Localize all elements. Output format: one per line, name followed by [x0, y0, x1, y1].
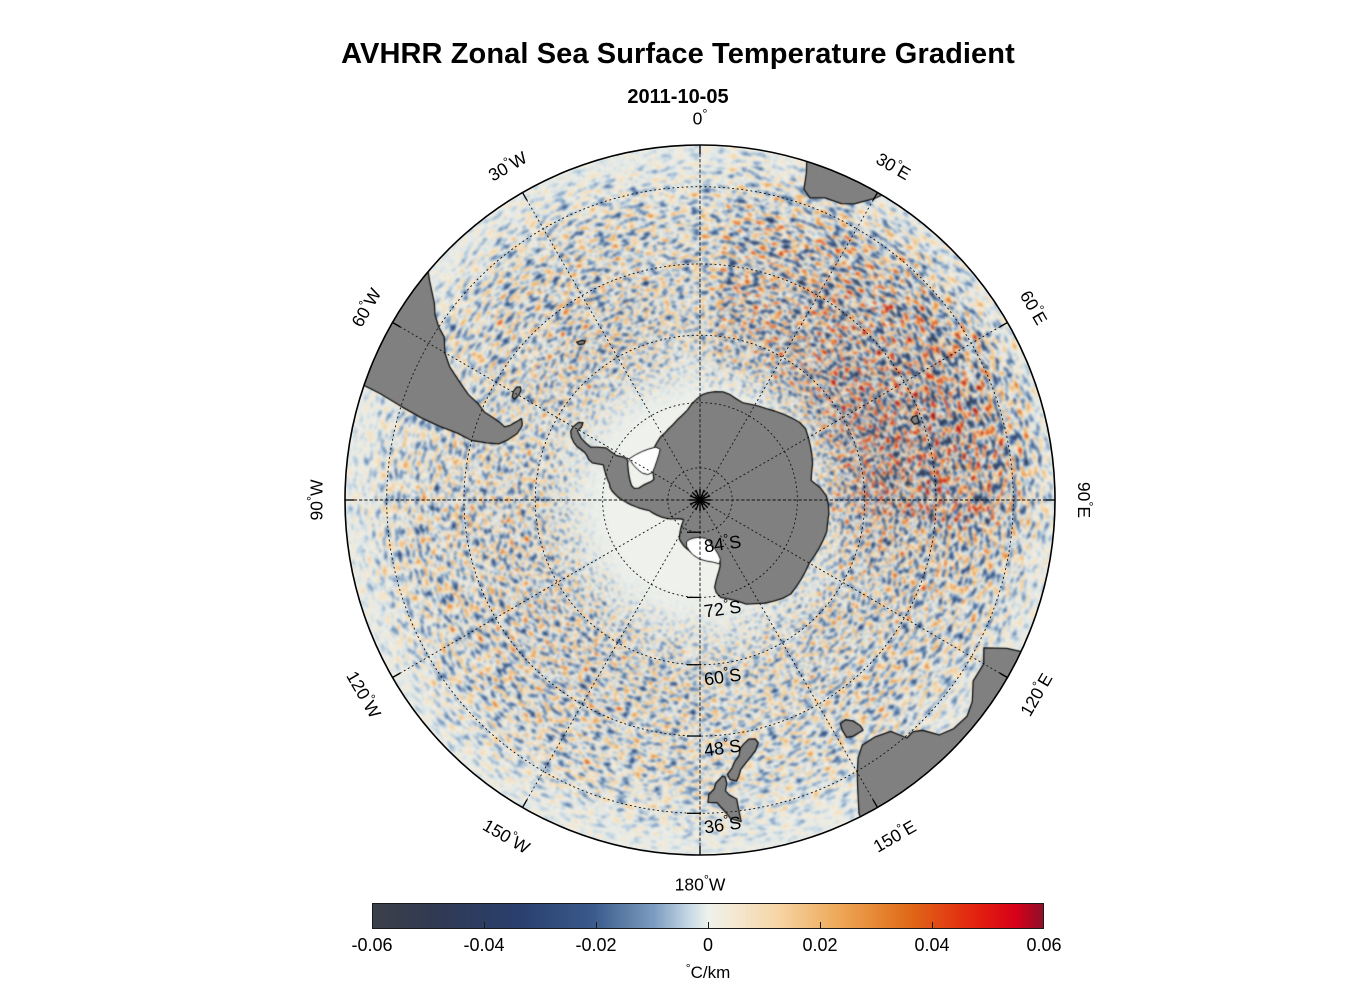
- meridian-210: [523, 500, 701, 807]
- colorbar-tick: [596, 922, 597, 929]
- meridian-60: [700, 323, 1007, 501]
- meridian-330: [523, 193, 701, 500]
- lon-label-value: 90: [1074, 482, 1094, 501]
- lon-label-hemisphere: W: [306, 479, 326, 496]
- longitude-tick-330: [523, 193, 528, 201]
- longitude-tick-30: [873, 193, 878, 201]
- lon-label-value: 0: [693, 108, 703, 128]
- chart-title: AVHRR Zonal Sea Surface Temperature Grad…: [0, 38, 1356, 71]
- lon-label-hemisphere: W: [709, 874, 726, 894]
- meridian-30: [700, 193, 878, 500]
- colorbar-tick: [820, 922, 821, 929]
- meridian-240: [393, 500, 700, 678]
- colorbar-tick-label: -0.06: [351, 935, 392, 956]
- colorbar-tick: [932, 922, 933, 929]
- degree-symbol: °: [702, 107, 707, 121]
- lat-label-value: 36: [703, 815, 726, 838]
- lat-label-value: 84: [703, 534, 726, 557]
- colorbar-tick-label: 0.06: [1026, 935, 1061, 956]
- longitude-label-90W: 90°W: [308, 479, 326, 520]
- longitude-label-180W: 180°W: [675, 876, 726, 894]
- lat-label-value: 48: [703, 738, 726, 761]
- lon-label-value: 180: [675, 874, 704, 894]
- lat-label-hemisphere: S: [728, 597, 743, 618]
- meridian-300: [393, 323, 700, 501]
- colorbar-units-degree: °C/km: [686, 963, 731, 982]
- colorbar-tick-label: 0: [703, 935, 713, 956]
- colorbar-tick-label: -0.02: [575, 935, 616, 956]
- degree-symbol: °: [305, 496, 319, 501]
- lon-label-hemisphere: E: [1074, 506, 1094, 518]
- longitude-tick-240: [393, 673, 401, 678]
- longitude-label-0: 0°: [693, 110, 708, 128]
- chart-subtitle: 2011-10-05: [0, 86, 1356, 109]
- colorbar-units-label: °C/km: [372, 963, 1044, 983]
- latitude-label-60S: 60°S: [703, 665, 742, 688]
- colorbar: -0.06-0.04-0.0200.020.040.06 °C/km: [372, 903, 1044, 929]
- lon-label-value: 90: [306, 501, 326, 520]
- figure-root: AVHRR Zonal Sea Surface Temperature Grad…: [0, 0, 1356, 1000]
- lat-label-hemisphere: S: [728, 813, 743, 834]
- latitude-label-48S: 48°S: [703, 737, 742, 760]
- longitude-tick-150: [873, 800, 878, 808]
- colorbar-tick: [484, 922, 485, 929]
- longitude-tick-210: [523, 800, 528, 808]
- longitude-label-90E: 90°E: [1074, 482, 1092, 518]
- longitude-tick-120: [1000, 673, 1008, 678]
- map-overlay: [345, 145, 1055, 855]
- lat-label-value: 60: [703, 667, 726, 690]
- meridian-120: [700, 500, 1007, 678]
- lat-label-value: 72: [703, 599, 726, 622]
- lat-label-hemisphere: S: [728, 736, 743, 757]
- longitude-tick-300: [393, 323, 401, 328]
- colorbar-tick-label: 0.04: [914, 935, 949, 956]
- lat-label-hemisphere: S: [728, 532, 743, 553]
- longitude-tick-60: [1000, 323, 1008, 328]
- colorbar-tick-label: 0.02: [802, 935, 837, 956]
- colorbar-tick-label: -0.04: [463, 935, 504, 956]
- colorbar-tick: [708, 922, 709, 929]
- polar-map: [345, 145, 1055, 855]
